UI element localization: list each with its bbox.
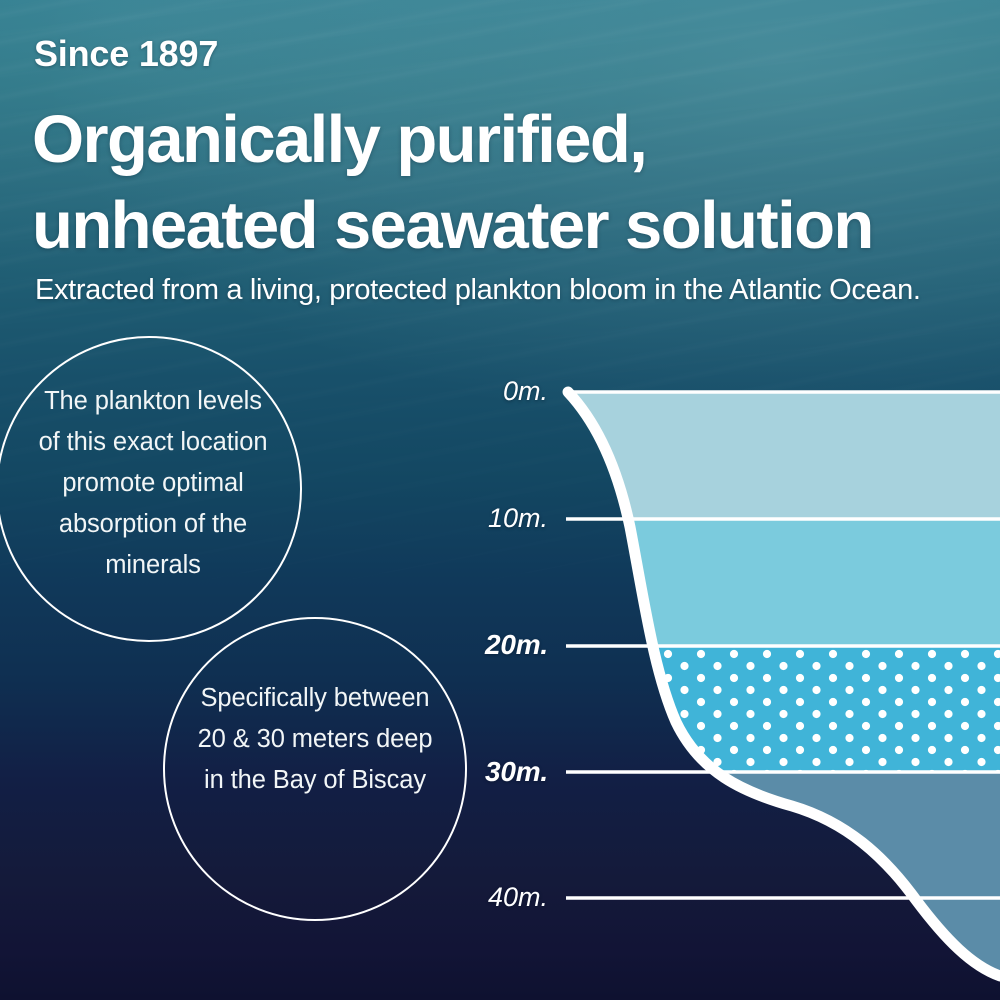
band-mid-layer (500, 519, 1000, 646)
band-surface-layer (500, 392, 1000, 519)
callout-circle-plankton: The plankton levels of this exact locati… (0, 336, 302, 642)
plankton-dot-pattern (500, 646, 1000, 772)
callout-circle-depth: Specifically between 20 & 30 meters deep… (163, 617, 467, 921)
callout-plankton-text: The plankton levels of this exact locati… (23, 381, 283, 586)
depth-label-10m: 10m. (380, 503, 548, 534)
seawater-depth-infographic: Since 1897 Organically purified, unheate… (0, 0, 1000, 1000)
band-deep-layer (500, 772, 1000, 1000)
callout-depth-text: Specifically between 20 & 30 meters deep… (186, 678, 444, 801)
depth-label-0m: 0m. (380, 376, 548, 407)
